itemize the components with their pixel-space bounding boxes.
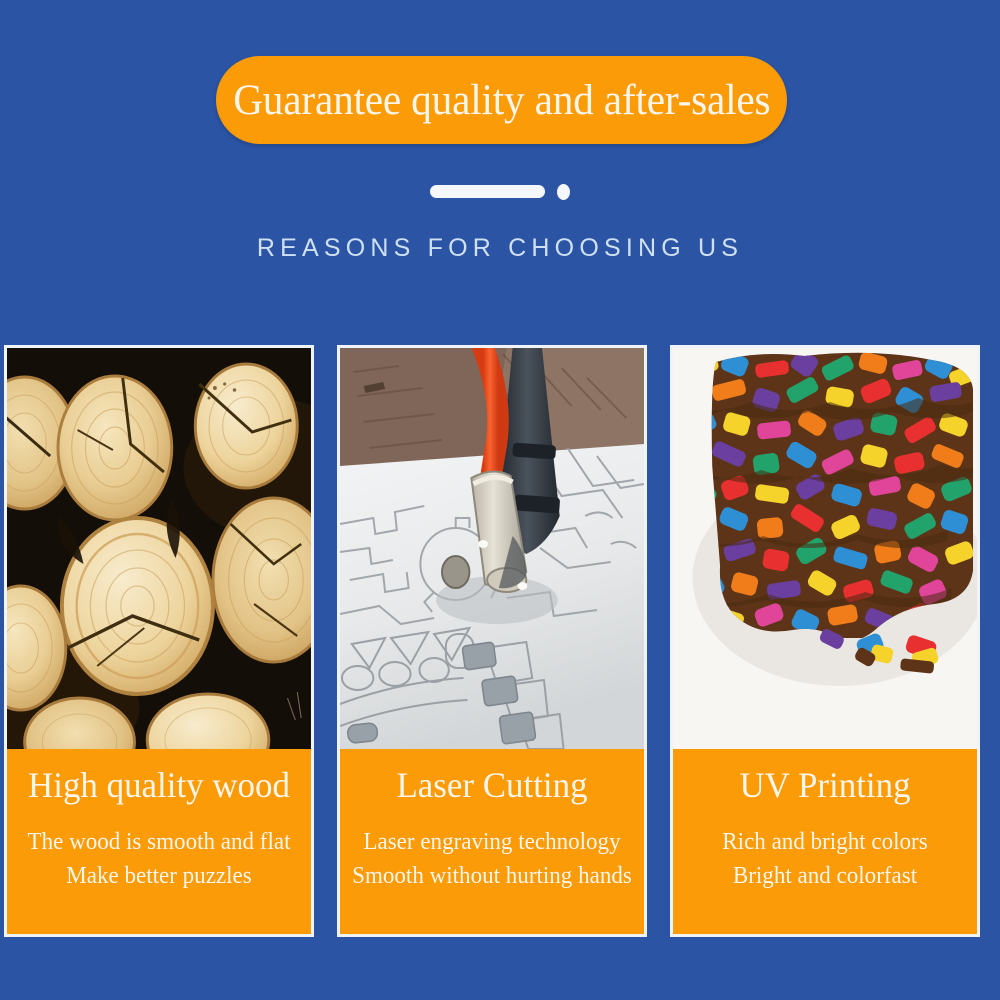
card-line: Laser engraving technology [346,825,638,859]
section-subtitle: REASONS FOR CHOOSING US [0,234,1000,263]
feature-card-uv: UV Printing Rich and bright colors Brigh… [670,345,980,937]
divider-ornament [430,182,575,202]
divider-dot-icon [557,184,570,200]
feature-card-wood: High quality wood The wood is smooth and… [4,345,314,937]
card-caption-uv: UV Printing Rich and bright colors Brigh… [673,749,977,937]
card-description: The wood is smooth and flat Make better … [7,825,311,893]
card-description: Laser engraving technology Smooth withou… [340,825,644,893]
card-description: Rich and bright colors Bright and colorf… [673,825,977,893]
banner-pill: Guarantee quality and after-sales [216,56,787,144]
feature-card-laser: Laser Cutting Laser engraving technology… [337,345,647,937]
card-line: Make better puzzles [13,859,305,893]
card-line: The wood is smooth and flat [13,825,305,859]
stacked-cut-logs-photo [7,348,311,749]
card-title: UV Printing [678,767,973,805]
card-caption-laser: Laser Cutting Laser engraving technology… [340,749,644,937]
feature-cards-row: High quality wood The wood is smooth and… [4,345,982,940]
card-line: Rich and bright colors [679,825,971,859]
colorful-puzzle-pieces-photo [673,348,977,749]
banner-title: Guarantee quality and after-sales [233,79,770,122]
card-line: Smooth without hurting hands [346,859,638,893]
laser-cutting-machine-photo [340,348,644,749]
card-title: Laser Cutting [345,767,640,805]
card-title: High quality wood [12,767,307,805]
promo-infographic-page: Guarantee quality and after-sales REASON… [0,0,1000,1000]
card-caption-wood: High quality wood The wood is smooth and… [7,749,311,937]
card-line: Bright and colorfast [679,859,971,893]
divider-bar-icon [430,185,545,198]
